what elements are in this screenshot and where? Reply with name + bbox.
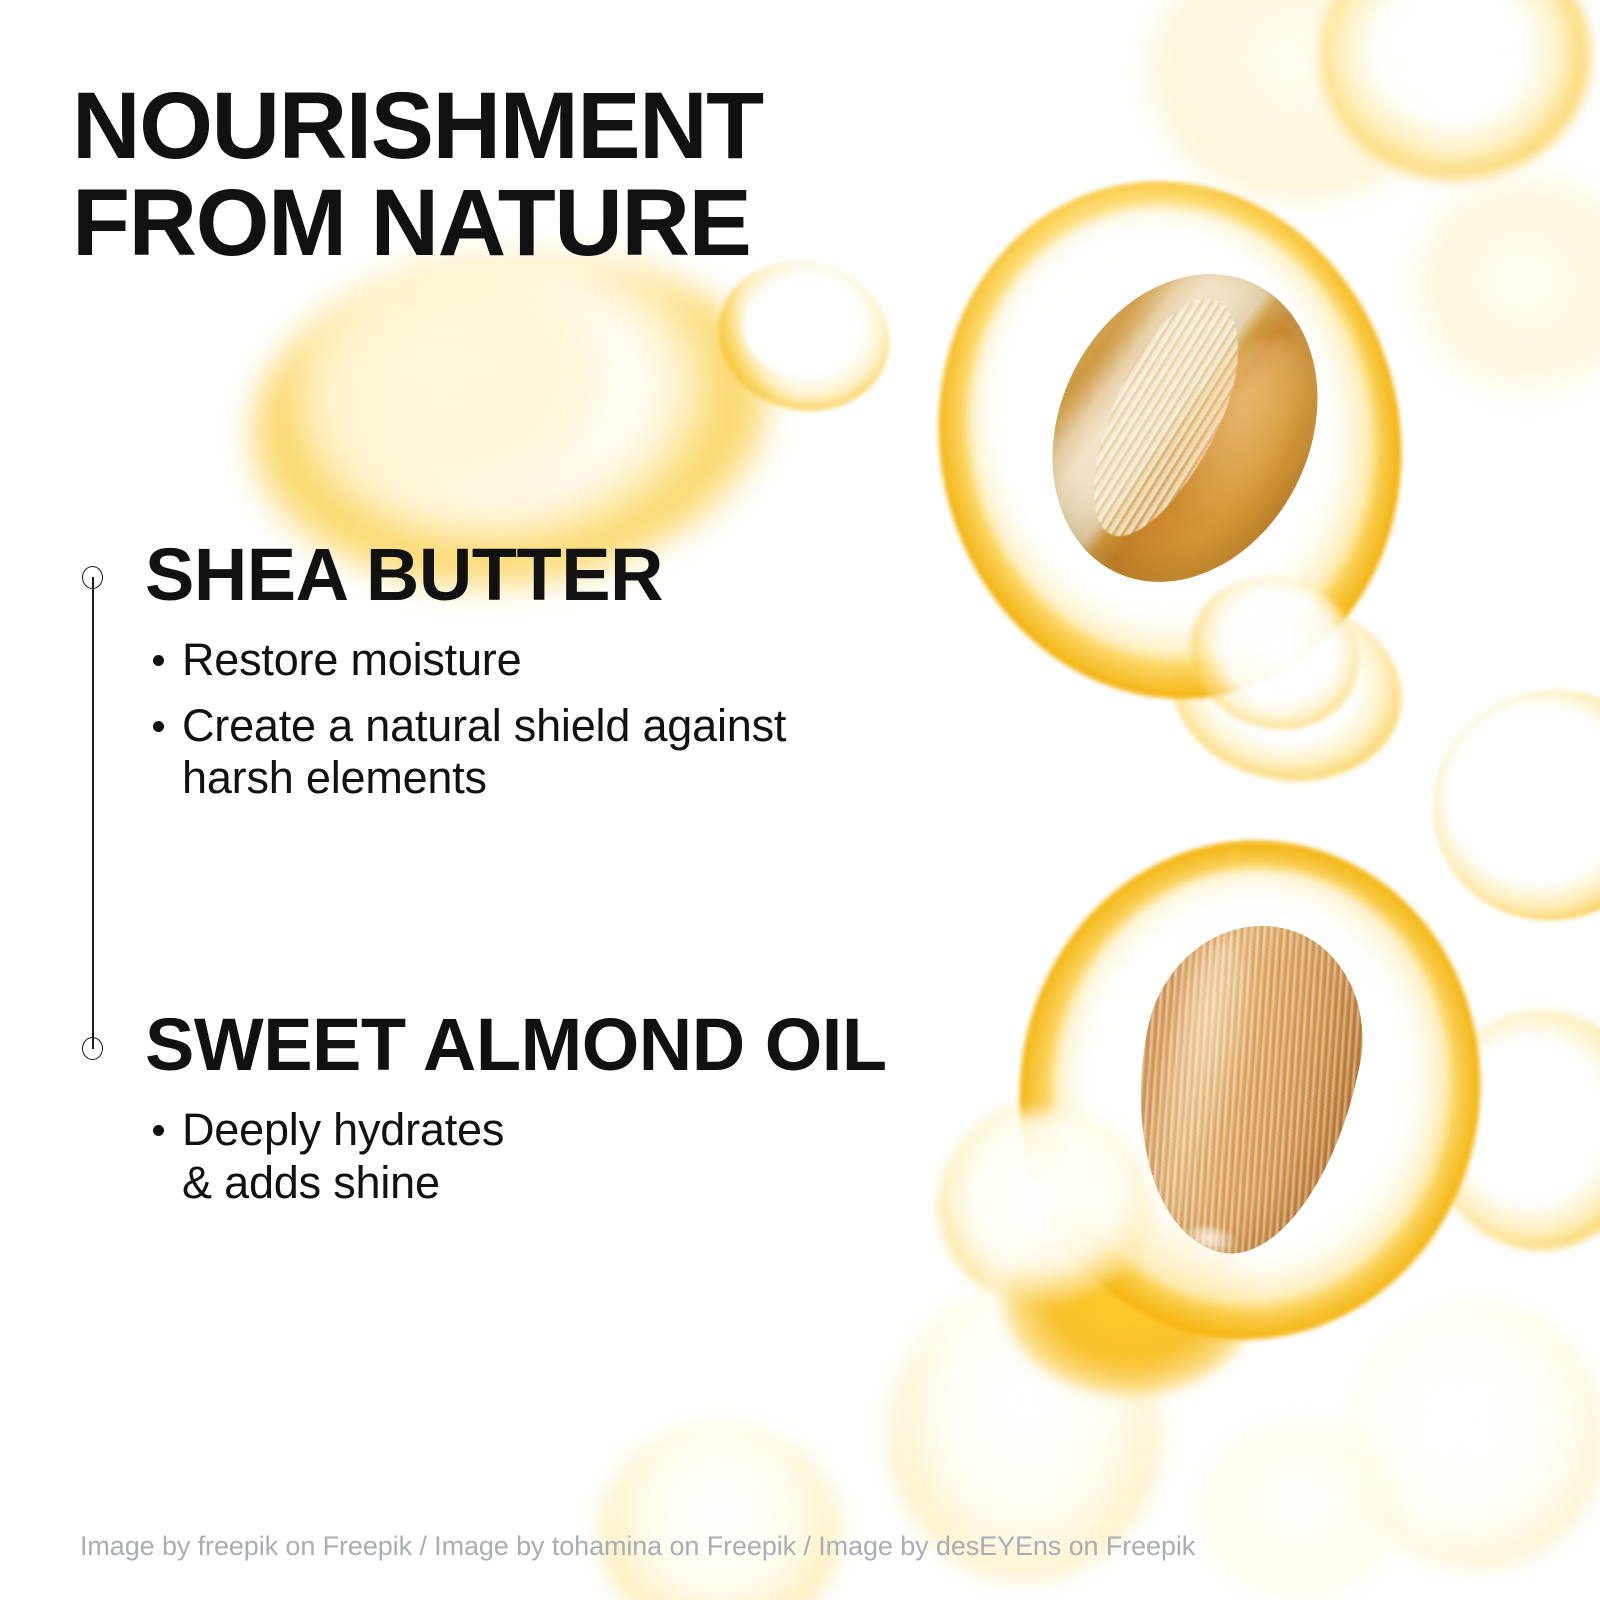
oil-droplet-top-right bbox=[1320, 0, 1590, 180]
section-sweet-almond-oil: SWEET ALMOND OIL Deeply hydrates & adds … bbox=[145, 1008, 887, 1222]
section-title-shea-butter: SHEA BUTTER bbox=[145, 538, 786, 612]
page-title: NOURISHMENT FROM NATURE bbox=[72, 78, 763, 272]
image-credits: Image by freepik on Freepik / Image by t… bbox=[80, 1531, 1195, 1562]
sweet-almond-oil-nut-image bbox=[1020, 840, 1480, 1340]
shea-butter-nut-image bbox=[940, 180, 1400, 700]
oil-blob-top-right-soft bbox=[1150, 0, 1450, 202]
shea-butter-node bbox=[82, 566, 103, 589]
section-connector-rail bbox=[82, 566, 104, 1060]
oil-blob-bottom-center-left bbox=[600, 1420, 840, 1600]
oil-blob-top-right-faint bbox=[1415, 175, 1600, 395]
infographic-canvas: NOURISHMENT FROM NATURE SHEA BUTTER Rest… bbox=[0, 0, 1600, 1600]
sweet-almond-oil-node bbox=[82, 1037, 103, 1060]
list-item: Deeply hydrates & adds shine bbox=[145, 1104, 887, 1209]
oil-droplet-title-right-core bbox=[742, 282, 852, 374]
list-item: Create a natural shield against harsh el… bbox=[145, 700, 786, 805]
connector-line bbox=[92, 577, 94, 1049]
oil-blob-bottom-right-faint bbox=[1200, 1420, 1400, 1600]
oil-blob-bottom-right bbox=[1345, 1300, 1600, 1570]
list-item: Restore moisture bbox=[145, 634, 786, 687]
section-title-sweet-almond-oil: SWEET ALMOND OIL bbox=[145, 1008, 887, 1082]
benefit-list-shea-butter: Restore moisture Create a natural shield… bbox=[145, 634, 786, 805]
oil-blob-large-left-core bbox=[300, 265, 630, 525]
benefit-list-sweet-almond-oil: Deeply hydrates & adds shine bbox=[145, 1104, 887, 1209]
section-shea-butter: SHEA BUTTER Restore moisture Create a na… bbox=[145, 538, 786, 818]
